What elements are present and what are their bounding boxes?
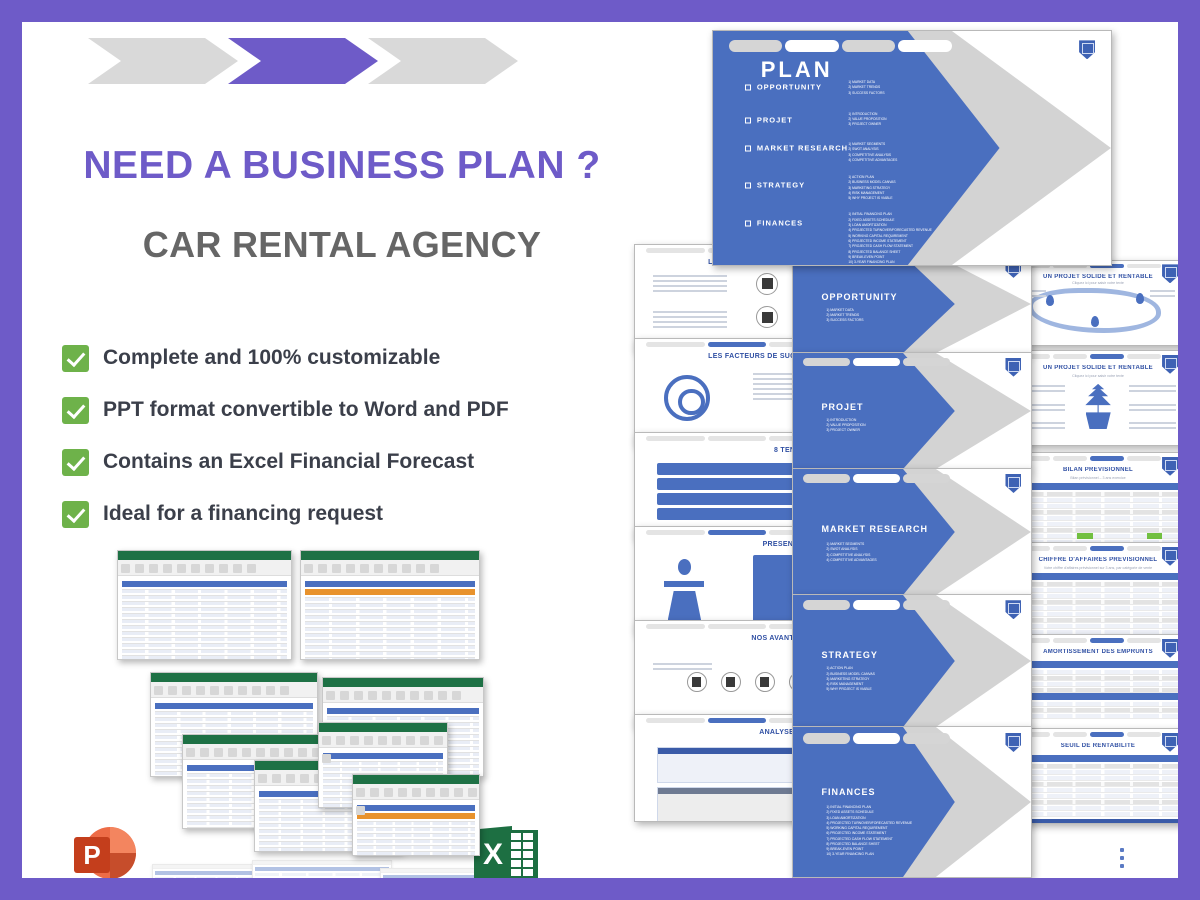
slide-nav-bar <box>1016 354 1160 359</box>
data-table <box>1018 755 1178 824</box>
plan-sub-item-list: 1) INITIAL FINANCING PLAN2) FIXED ASSETS… <box>848 212 931 265</box>
section-item: 10) 3-YEAR FINANCING PLAN <box>826 852 912 857</box>
headline-question: NEED A BUSINESS PLAN ? <box>62 144 622 188</box>
section-title: PROJET <box>822 402 864 412</box>
feature-list: Complete and 100% customizable PPT forma… <box>62 332 632 540</box>
plan-sub-item: 4) PROJECTED TURNOVER/FORECASTED REVENUE <box>848 228 931 233</box>
checkbox-icon <box>745 117 751 123</box>
powerpoint-icon: P <box>74 824 136 878</box>
slide-nav-bar <box>1016 638 1160 643</box>
plan-sub-item: 10) 3-YEAR FINANCING PLAN <box>848 260 931 265</box>
text-block <box>1129 422 1176 432</box>
feature-item: Complete and 100% customizable <box>62 332 632 384</box>
financial-slide[interactable]: AMORTISSEMENT DES EMPRUNTS <box>1010 634 1178 730</box>
section-item: 3) SUCCESS FACTORS <box>826 318 863 323</box>
excel-icon: X <box>474 822 540 878</box>
section-title: STRATEGY <box>822 650 878 660</box>
section-item: 3) PROJECT OWNER <box>826 428 865 433</box>
checkbox-icon <box>745 220 751 226</box>
deck-scroll-dots <box>1120 848 1124 872</box>
slide-nav-bar <box>1016 732 1160 737</box>
section-slide[interactable]: OPPORTUNITY 1) MARKET DATA2) MARKET TREN… <box>792 254 1032 354</box>
plan-sub-item: 2) BUSINESS MODEL CANVAS <box>848 180 895 185</box>
map-pin-icon <box>1136 293 1144 304</box>
plan-sub-item-list: 1) ACTION PLAN2) BUSINESS MODEL CANVAS3)… <box>848 175 895 202</box>
excel-ribbon <box>118 560 291 576</box>
plan-section-label: MARKET RESEARCH <box>745 144 848 153</box>
excel-title-bar <box>353 775 479 784</box>
feature-label: Ideal for a financing request <box>103 502 383 526</box>
data-table <box>1018 573 1178 638</box>
feature-item: Ideal for a financing request <box>62 488 632 540</box>
excel-ribbon <box>183 744 331 760</box>
slide-nav-bar <box>803 600 951 609</box>
financial-slide[interactable]: UN PROJET SOLIDE ET RENTABLECliquez ici … <box>1010 260 1178 346</box>
check-box-icon <box>62 449 89 476</box>
section-item-list: 1) MARKET SEGMENTS2) SWOT ANALYSIS3) COM… <box>826 542 876 563</box>
section-title: MARKET RESEARCH <box>822 524 929 534</box>
brand-shield-icon <box>1079 40 1095 59</box>
brand-shield-icon <box>1005 474 1021 493</box>
handshake-icon <box>687 672 707 692</box>
poster-canvas: NEED A BUSINESS PLAN ? CAR RENTAL AGENCY… <box>22 22 1178 878</box>
slide-nav-bar <box>803 358 951 366</box>
slide-nav-bar <box>803 474 951 483</box>
plan-section-label: STRATEGY <box>745 181 805 190</box>
chart-icon <box>756 273 778 295</box>
headline-topic: CAR RENTAL AGENCY <box>62 224 622 266</box>
section-slide[interactable]: PROJET 1) INTRODUCTION2) VALUE PROPOSITI… <box>792 352 1032 470</box>
check-box-icon <box>62 501 89 528</box>
excel-window <box>352 774 480 856</box>
slide-nav-bar <box>1016 456 1160 461</box>
text-block <box>653 311 727 331</box>
plan-sub-item: 5) WHY PROJECT IS VIABLE <box>848 196 895 201</box>
text-block <box>1129 404 1176 414</box>
excel-sheet-glyph <box>508 830 538 878</box>
chevron-step-2-active <box>228 38 378 84</box>
financial-slide[interactable]: CHIFFRE D'AFFAIRES PRÉVISIONNELVotre chi… <box>1010 542 1178 638</box>
slide-title: AMORTISSEMENT DES EMPRUNTS <box>1011 649 1178 655</box>
section-title: OPPORTUNITY <box>822 292 898 302</box>
lightbulb-icon <box>755 672 775 692</box>
plan-section-label: FINANCES <box>745 218 803 227</box>
plan-sub-item-list: 1) MARKET SEGMENTS2) SWOT ANALYSIS3) COM… <box>848 142 897 163</box>
section-item-list: 1) ACTION PLAN2) BUSINESS MODEL CANVAS3)… <box>826 666 875 692</box>
excel-window <box>117 550 292 660</box>
excel-ribbon <box>353 784 479 800</box>
checkbox-icon <box>745 146 751 152</box>
financial-slide[interactable]: UN PROJET SOLIDE ET RENTABLECliquez ici … <box>1010 350 1178 446</box>
excel-ribbon <box>151 682 317 698</box>
excel-title-bar <box>183 735 331 744</box>
text-block <box>653 663 712 673</box>
highlight-cell <box>1147 533 1163 539</box>
map-pin-icon <box>1046 295 1054 306</box>
hand-icon <box>721 672 741 692</box>
chevron-progress-strip <box>88 38 518 84</box>
slide-title: CHIFFRE D'AFFAIRES PRÉVISIONNEL <box>1011 557 1178 563</box>
section-item-list: 1) MARKET DATA2) MARKET TRENDS3) SUCCESS… <box>826 308 863 324</box>
excel-ribbon <box>301 560 479 576</box>
plan-sub-item: 4) COMPETITIVE ADVANTAGES <box>848 158 897 163</box>
section-item: 5) WHY PROJECT IS VIABLE <box>826 687 875 692</box>
powerpoint-letter: P <box>74 837 110 873</box>
target-icon <box>664 375 710 421</box>
plan-slide[interactable]: PLAN OPPORTUNITY 1) MARKET DATA2) MARKET… <box>712 30 1112 266</box>
slide-subtitle: Bilan prévisionnel – 3 ans exercice <box>1028 476 1167 480</box>
excel-ribbon <box>319 732 447 748</box>
plan-sub-item: 2) MARKET TRENDS <box>848 85 884 90</box>
financial-slide[interactable]: BILAN PRÉVISIONNELBilan prévisionnel – 3… <box>1010 452 1178 548</box>
text-block <box>1129 385 1176 395</box>
feature-label: Complete and 100% customizable <box>103 346 440 370</box>
window-reflection <box>152 860 482 878</box>
slide-nav-bar <box>803 733 951 744</box>
handshake-icon <box>756 306 778 328</box>
plan-section-label: PROJET <box>745 115 793 124</box>
excel-title-bar <box>319 723 447 732</box>
text-block <box>653 275 727 295</box>
chevron-step-1 <box>88 38 238 84</box>
check-box-icon <box>62 397 89 424</box>
excel-title-bar <box>151 673 317 682</box>
brand-shield-icon <box>1005 600 1021 619</box>
excel-ribbon <box>323 687 483 703</box>
data-table-secondary <box>1018 693 1178 720</box>
slide-nav-bar <box>1016 546 1160 551</box>
slide-title: SEUIL DE RENTABILITÉ <box>1011 743 1178 749</box>
excel-title-bar <box>118 551 291 560</box>
speaker-podium-icon <box>664 559 704 621</box>
feature-label: Contains an Excel Financial Forecast <box>103 450 474 474</box>
slide-subtitle: Votre chiffre d'affaires prévisionnel su… <box>1028 566 1167 570</box>
section-slide[interactable]: STRATEGY 1) ACTION PLAN2) BUSINESS MODEL… <box>792 594 1032 728</box>
left-box-column <box>657 463 797 520</box>
excel-title-bar <box>323 678 483 687</box>
poster-page: NEED A BUSINESS PLAN ? CAR RENTAL AGENCY… <box>0 0 1200 900</box>
section-title: FINANCES <box>822 787 876 797</box>
check-box-icon <box>62 345 89 372</box>
plan-sub-item: 3) SUCCESS FACTORS <box>848 91 884 96</box>
brand-shield-icon <box>1005 358 1021 377</box>
section-slide[interactable]: FINANCES 1) INITIAL FINANCING PLAN2) FIX… <box>792 726 1032 878</box>
section-item-list: 1) INITIAL FINANCING PLAN2) FIXED ASSETS… <box>826 805 912 858</box>
section-item-list: 1) INTRODUCTION2) VALUE PROPOSITION3) PR… <box>826 418 865 434</box>
slide-title: BILAN PRÉVISIONNEL <box>1011 467 1178 473</box>
checkbox-icon <box>745 183 751 189</box>
chevron-step-3 <box>368 38 518 84</box>
section-slide[interactable]: MARKET RESEARCH 1) MARKET SEGMENTS2) SWO… <box>792 468 1032 596</box>
slide-subtitle: Cliquez ici pour saisir votre texte <box>1028 281 1167 285</box>
slide-title: UN PROJET SOLIDE ET RENTABLE <box>1011 274 1178 280</box>
plant-growth-icon <box>1077 383 1119 429</box>
section-item: 4) COMPETITIVE ADVANTAGES <box>826 558 876 563</box>
feature-label: PPT format convertible to Word and PDF <box>103 398 509 422</box>
slide-title: UN PROJET SOLIDE ET RENTABLE <box>1011 365 1178 371</box>
brand-shield-icon <box>1005 733 1021 752</box>
excel-title-bar <box>301 551 479 560</box>
excel-sheet-area <box>353 800 479 856</box>
plan-sub-item-list: 1) MARKET DATA2) MARKET TRENDS3) SUCCESS… <box>848 80 884 96</box>
slide-subtitle: Cliquez ici pour saisir votre texte <box>1028 374 1167 378</box>
slide-nav-bar <box>729 40 952 52</box>
excel-window <box>300 550 480 660</box>
feature-item: Contains an Excel Financial Forecast <box>62 436 632 488</box>
feature-item: PPT format convertible to Word and PDF <box>62 384 632 436</box>
advantage-icons <box>687 672 809 692</box>
highlight-cell <box>1077 533 1093 539</box>
plan-sub-item: 3) PROJECT OWNER <box>848 122 886 127</box>
excel-sheet-area <box>118 576 291 660</box>
text-block <box>1150 290 1174 300</box>
financial-slide[interactable]: SEUIL DE RENTABILITÉ <box>1010 728 1178 824</box>
checkbox-icon <box>745 85 751 91</box>
plan-sub-item-list: 1) INTRODUCTION2) VALUE PROPOSITION3) PR… <box>848 112 886 128</box>
plan-section-label: OPPORTUNITY <box>745 83 822 92</box>
plan-title: PLAN <box>761 57 833 83</box>
excel-sheet-area <box>301 576 479 660</box>
